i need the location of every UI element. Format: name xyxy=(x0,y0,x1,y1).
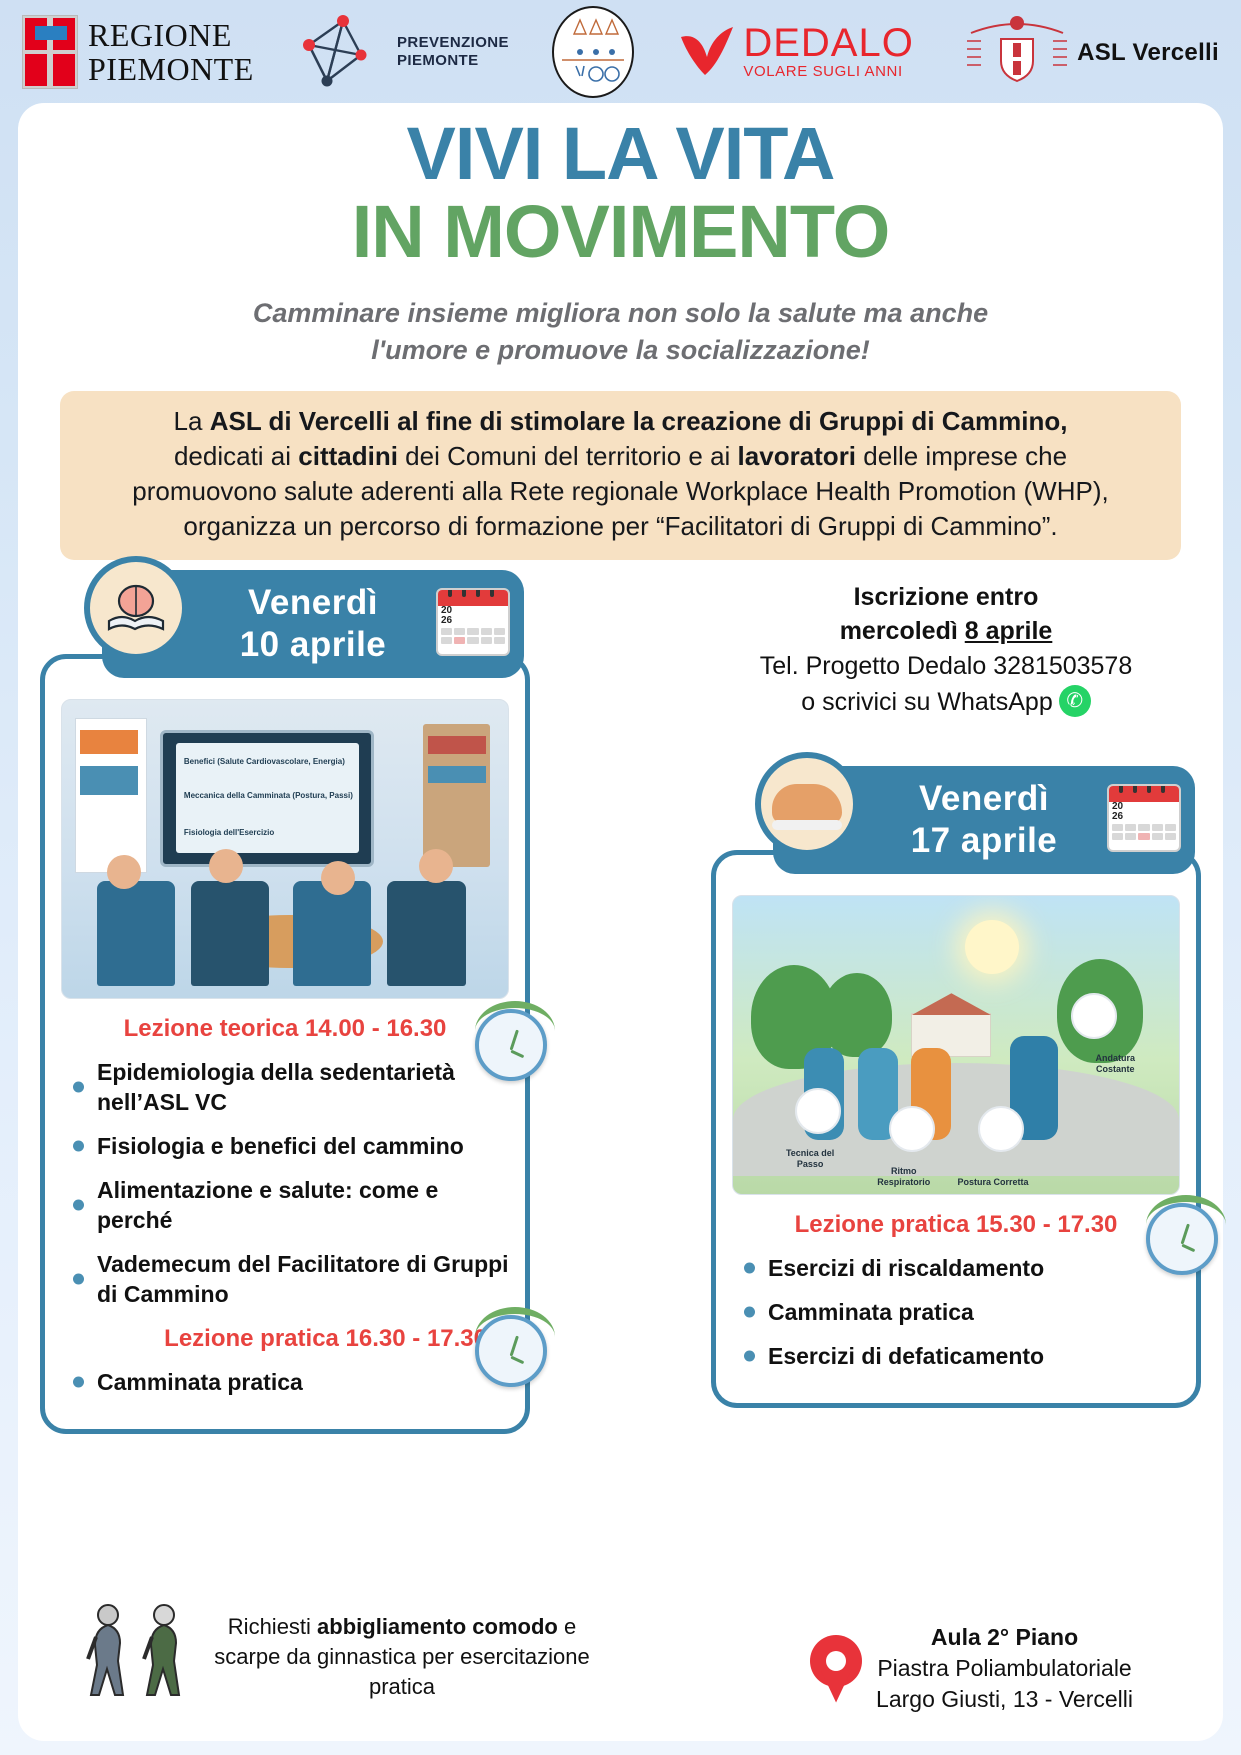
dedalo-bird-icon xyxy=(677,21,737,83)
calendar-icon: 20 26 xyxy=(436,588,510,656)
regione-piemonte-line2: PIEMONTE xyxy=(88,52,254,86)
card-10-aprile: Venerdì 10 aprile 20 26 xyxy=(40,570,530,1434)
card-17-body: Tecnica del Passo Ritmo Respiratorio Pos… xyxy=(711,850,1201,1408)
dedalo-name: DEDALO xyxy=(743,23,914,63)
footer-requirements: Richiesti abbigliamento comodo e scarpe … xyxy=(74,1597,594,1717)
registration-block: Iscrizione entro mercoledì 8 aprile Tel.… xyxy=(711,580,1181,720)
registration-line2: mercoledì 8 aprile xyxy=(711,614,1181,648)
photo-label-2: Ritmo Respiratorio xyxy=(867,1166,941,1188)
card-17-aprile: Venerdì 17 aprile 20 26 xyxy=(711,766,1201,1408)
registration-line2-plain: mercoledì xyxy=(840,617,965,645)
list-item: Fisiologia e benefici del cammino xyxy=(67,1131,509,1161)
list-item: Esercizi di defaticamento xyxy=(738,1341,1180,1371)
intro-line2-bold-b: lavoratori xyxy=(738,441,857,471)
intro-line2-bold-a: cittadini xyxy=(298,441,398,471)
registration-deadline: 8 aprile xyxy=(965,617,1053,645)
logo-prevenzione-piemonte: PREVENZIONE PIEMONTE xyxy=(297,11,509,93)
intro-line2-plain-b: dei Comuni del territorio e ai xyxy=(398,441,738,471)
card-10-list-1: Epidemiologia della sedentarietà nell’AS… xyxy=(67,1057,509,1309)
card-17-time-1: Lezione pratica 15.30 - 17.30 xyxy=(732,1211,1180,1239)
dedalo-tagline: VOLARE SUGLI ANNI xyxy=(743,63,914,80)
screen-label-1: Benefici (Salute Cardiovascolare, Energi… xyxy=(184,756,345,767)
footer-location-text: Aula 2° Piano Piastra Poliambulatoriale … xyxy=(876,1622,1133,1715)
intro-paragraph-box: La ASL di Vercelli al fine di stimolare … xyxy=(60,391,1181,560)
cards-area: Iscrizione entro mercoledì 8 aprile Tel.… xyxy=(18,570,1223,1450)
prevenzione-piemonte-wordmark: PREVENZIONE PIEMONTE xyxy=(397,34,509,70)
card-17-list-1: Esercizi di riscaldamento Camminata prat… xyxy=(738,1253,1180,1371)
subtitle: Camminare insieme migliora non solo la s… xyxy=(18,295,1223,369)
logo-bar: REGIONE PIEMONTE PREVENZIONE PIEMONTE xyxy=(0,0,1241,103)
screen-label-2: Meccanica della Camminata (Postura, Pass… xyxy=(184,790,353,801)
list-item: Camminata pratica xyxy=(67,1367,509,1397)
screen-label-3: Fisiologia dell'Esercizio xyxy=(184,827,274,838)
list-item: Alimentazione e salute: come e perché xyxy=(67,1175,509,1235)
registration-phone[interactable]: Tel. Progetto Dedalo 3281503578 xyxy=(711,648,1181,684)
card-17-day: Venerdì 17 aprile xyxy=(911,778,1058,862)
map-pin-icon xyxy=(810,1635,862,1703)
intro-line4: organizza un percorso di formazione per … xyxy=(78,509,1163,544)
req-bold-a: abbigliamento comodo xyxy=(317,1614,558,1639)
card-10-day-line1: Venerdì xyxy=(240,582,387,624)
intro-line1-bold: ASL di Vercelli al fine di stimolare la … xyxy=(210,406,1068,436)
walking-group-outdoor-illustration: Tecnica del Passo Ritmo Respiratorio Pos… xyxy=(732,895,1180,1195)
list-item: Camminata pratica xyxy=(738,1297,1180,1327)
page-title-line2: IN MOVIMENTO xyxy=(18,195,1223,269)
registration-whatsapp-label: o scrivici su WhatsApp xyxy=(801,688,1052,716)
asl-vercelli-label: ASL Vercelli xyxy=(1077,39,1219,67)
footer-location: Aula 2° Piano Piastra Poliambulatoriale … xyxy=(810,1622,1133,1715)
poster-content: VIVI LA VITA IN MOVIMENTO Camminare insi… xyxy=(18,103,1223,1741)
location-line2: Piastra Poliambulatoriale xyxy=(876,1653,1133,1684)
photo-label-3: Postura Corretta xyxy=(956,1177,1030,1188)
card-10-body: Benefici (Salute Cardiovascolare, Energi… xyxy=(40,654,530,1434)
card-10-day: Venerdì 10 aprile xyxy=(240,582,387,666)
intro-line1: La ASL di Vercelli al fine di stimolare … xyxy=(78,404,1163,439)
list-item: Esercizi di riscaldamento xyxy=(738,1253,1180,1283)
card-10-time-2: Lezione pratica 16.30 - 17.30 xyxy=(61,1325,509,1353)
logo-dedalo: DEDALO VOLARE SUGLI ANNI xyxy=(677,21,914,83)
intro-line2-plain-c: delle imprese che xyxy=(856,441,1067,471)
location-line1: Aula 2° Piano xyxy=(876,1622,1133,1653)
subtitle-line2: l'umore e promuove la socializzazione! xyxy=(18,332,1223,369)
calendar-year-bottom: 26 xyxy=(438,616,508,626)
network-graph-icon xyxy=(297,11,389,93)
whatsapp-icon[interactable] xyxy=(1059,685,1091,717)
location-line3: Largo Giusti, 13 - Vercelli xyxy=(876,1684,1133,1715)
walking-group-oval-icon xyxy=(552,6,634,98)
card-10-header: Venerdì 10 aprile 20 26 xyxy=(102,570,524,678)
book-brain-icon xyxy=(84,556,188,660)
regione-piemonte-line1: REGIONE xyxy=(88,18,254,52)
card-17-day-line1: Venerdì xyxy=(911,778,1058,820)
logo-regione-piemonte: REGIONE PIEMONTE xyxy=(22,15,254,89)
page-title-line1: VIVI LA VITA xyxy=(18,117,1223,191)
logo-asl-vercelli: ASL Vercelli xyxy=(957,15,1219,88)
sun-icon xyxy=(965,920,1019,974)
registration-whatsapp[interactable]: o scrivici su WhatsApp xyxy=(711,684,1181,720)
poster-page: REGIONE PIEMONTE PREVENZIONE PIEMONTE xyxy=(0,0,1241,1755)
classroom-lesson-illustration: Benefici (Salute Cardiovascolare, Energi… xyxy=(61,699,509,999)
calendar-year-bottom: 26 xyxy=(1109,812,1179,822)
dedalo-wordmark: DEDALO VOLARE SUGLI ANNI xyxy=(743,23,914,80)
logo-gruppi-cammino xyxy=(552,6,634,98)
vercelli-coat-of-arms-icon xyxy=(957,15,1077,83)
photo-label-1: Tecnica del Passo xyxy=(773,1148,847,1170)
list-item: Vademecum del Facilitatore di Gruppi di … xyxy=(67,1249,509,1309)
list-item: Epidemiologia della sedentarietà nell’AS… xyxy=(67,1057,509,1117)
card-10-list-2: Camminata pratica xyxy=(67,1367,509,1397)
running-shoe-icon xyxy=(755,752,859,856)
card-10-time-1: Lezione teorica 14.00 - 16.30 xyxy=(61,1015,509,1043)
card-10-day-line2: 10 aprile xyxy=(240,624,387,666)
andatura-costante-icon xyxy=(1071,993,1117,1039)
regione-piemonte-wordmark: REGIONE PIEMONTE xyxy=(88,18,254,86)
footer: Richiesti abbigliamento comodo e scarpe … xyxy=(18,1573,1223,1723)
registration-line1: Iscrizione entro xyxy=(711,580,1181,614)
presentation-screen: Benefici (Salute Cardiovascolare, Energi… xyxy=(160,730,374,867)
req-plain-a: Richiesti xyxy=(228,1614,317,1639)
photo-label-4: Andatura Costante xyxy=(1078,1053,1152,1075)
prevenzione-line2: PIEMONTE xyxy=(397,52,509,70)
card-17-header: Venerdì 17 aprile 20 26 xyxy=(773,766,1195,874)
walking-people-icon xyxy=(74,1597,204,1717)
subtitle-line1: Camminare insieme migliora non solo la s… xyxy=(18,295,1223,332)
card-17-day-line2: 17 aprile xyxy=(911,820,1058,862)
intro-line2: dedicati ai cittadini dei Comuni del ter… xyxy=(78,439,1163,474)
footer-requirement-text: Richiesti abbigliamento comodo e scarpe … xyxy=(210,1612,594,1702)
regione-piemonte-shield-icon xyxy=(22,15,78,89)
intro-line2-plain-a: dedicati ai xyxy=(174,441,298,471)
prevenzione-line1: PREVENZIONE xyxy=(397,34,509,52)
intro-line3: promuovono salute aderenti alla Rete reg… xyxy=(78,474,1163,509)
intro-line1-plain: La xyxy=(174,406,210,436)
calendar-icon: 20 26 xyxy=(1107,784,1181,852)
